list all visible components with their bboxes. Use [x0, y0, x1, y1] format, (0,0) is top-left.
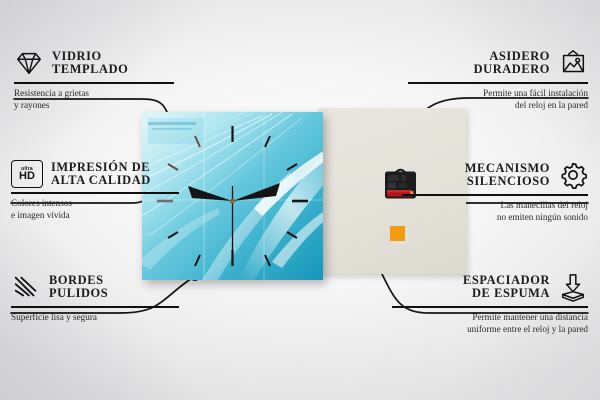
feature-desc-line2: uniforme entre el reloj y la pared — [392, 323, 588, 335]
feature-desc-line2: e imagen vívida — [11, 209, 187, 221]
feature-description: Resistencia a grietas y rayones — [14, 87, 184, 111]
infographic-canvas: VIDRIO TEMPLADO Resistencia a grietas y … — [0, 0, 600, 400]
picture-hanger-icon — [558, 48, 588, 78]
mechanism-detail — [388, 175, 399, 181]
feature-description: Superficie lisa y segura — [11, 311, 187, 323]
feature-title-line2: TEMPLADO — [52, 63, 128, 76]
ultra-hd-icon: ultra HD — [11, 160, 43, 188]
feature-divider — [402, 194, 588, 196]
polished-edges-icon — [11, 272, 41, 302]
foam-spacer-icon — [558, 272, 588, 302]
mechanism-detail — [388, 183, 396, 189]
feature-title-line2: SILENCIOSO — [465, 175, 550, 188]
diamond-icon — [14, 48, 44, 78]
feature-vidrio-templado: VIDRIO TEMPLADO Resistencia a grietas y … — [14, 48, 184, 111]
feature-desc-line2: del reloj en la pared — [408, 99, 588, 111]
feature-divider — [408, 82, 588, 84]
feature-desc-line1: Las manecillas del reloj — [402, 199, 588, 211]
feature-divider — [11, 306, 179, 308]
feature-desc-line1: Resistencia a grietas — [14, 87, 184, 99]
foam-spacer — [390, 226, 405, 241]
feature-title-line2: DE ESPUMA — [463, 287, 550, 300]
feature-mecanismo-silencioso: MECANISMO SILENCIOSO Las manecillas del … — [402, 160, 588, 223]
feature-description: Permite mantener una distancia uniforme … — [392, 311, 588, 335]
feature-desc-line1: Colores intensos — [11, 197, 187, 209]
ultra-hd-icon-large-text: HD — [19, 171, 35, 182]
feature-description: Colores intensos e imagen vívida — [11, 197, 187, 221]
feature-desc-line2: y rayones — [14, 99, 184, 111]
feature-title-line2: PULIDOS — [49, 287, 108, 300]
feature-divider — [11, 192, 179, 194]
feature-desc-line2: no emiten ningún sonido — [402, 211, 588, 223]
feature-impresion-alta-calidad: ultra HD IMPRESIÓN DE ALTA CALIDAD Color… — [11, 160, 187, 221]
feature-desc-line1: Permite una fácil instalación — [408, 87, 588, 99]
gear-icon — [558, 160, 588, 190]
feature-description: Permite una fácil instalación del reloj … — [408, 87, 588, 111]
feature-desc-line1: Superficie lisa y segura — [11, 311, 187, 323]
feature-asidero-duradero: ASIDERO DURADERO Permite una fácil insta… — [408, 48, 588, 111]
feature-bordes-pulidos: BORDES PULIDOS Superficie lisa y segura — [11, 272, 187, 323]
feature-desc-line1: Permite mantener una distancia — [392, 311, 588, 323]
feature-divider — [392, 306, 588, 308]
feature-title-line2: ALTA CALIDAD — [51, 174, 151, 187]
feature-divider — [14, 82, 174, 84]
feature-espaciador-de-espuma: ESPACIADOR DE ESPUMA Permite mantener un… — [392, 272, 588, 335]
feature-description: Las manecillas del reloj no emiten ningú… — [402, 199, 588, 223]
feature-title-line2: DURADERO — [474, 63, 550, 76]
